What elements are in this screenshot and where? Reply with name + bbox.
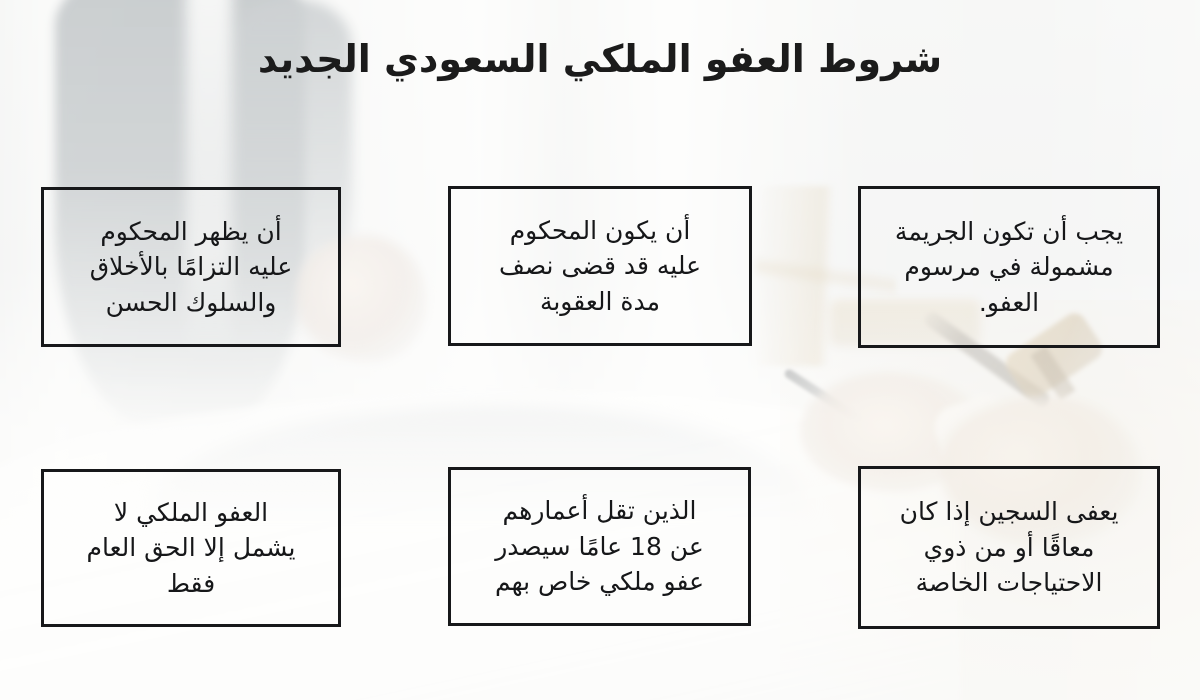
infographic-canvas: شروط العفو الملكي السعودي الجديد يجب أن … — [0, 0, 1200, 700]
infographic-content: شروط العفو الملكي السعودي الجديد يجب أن … — [0, 0, 1200, 700]
condition-card-text: أن يكون المحكوم عليه قد قضى نصف مدة العق… — [465, 213, 735, 320]
condition-card-public-right: العفو الملكي لا يشمل إلا الحق العام فقط — [41, 469, 341, 627]
condition-card-text: يجب أن تكون الجريمة مشمولة في مرسوم العف… — [875, 214, 1143, 321]
condition-card-good-conduct: أن يظهر المحكوم عليه التزامًا بالأخلاق و… — [41, 187, 341, 347]
condition-card-disabled-pardon: يعفى السجين إذا كان معاقًا أو من ذوي الا… — [858, 466, 1160, 629]
page-title: شروط العفو الملكي السعودي الجديد — [0, 36, 1200, 84]
condition-card-text: الذين تقل أعمارهم عن 18 عامًا سيصدر عفو … — [465, 493, 734, 600]
condition-card-crime-covered: يجب أن تكون الجريمة مشمولة في مرسوم العف… — [858, 186, 1160, 348]
condition-card-half-sentence: أن يكون المحكوم عليه قد قضى نصف مدة العق… — [448, 186, 752, 346]
condition-card-text: العفو الملكي لا يشمل إلا الحق العام فقط — [58, 495, 324, 602]
condition-card-text: يعفى السجين إذا كان معاقًا أو من ذوي الا… — [875, 494, 1143, 601]
condition-card-minors-pardon: الذين تقل أعمارهم عن 18 عامًا سيصدر عفو … — [448, 467, 751, 626]
condition-card-text: أن يظهر المحكوم عليه التزامًا بالأخلاق و… — [58, 214, 324, 321]
